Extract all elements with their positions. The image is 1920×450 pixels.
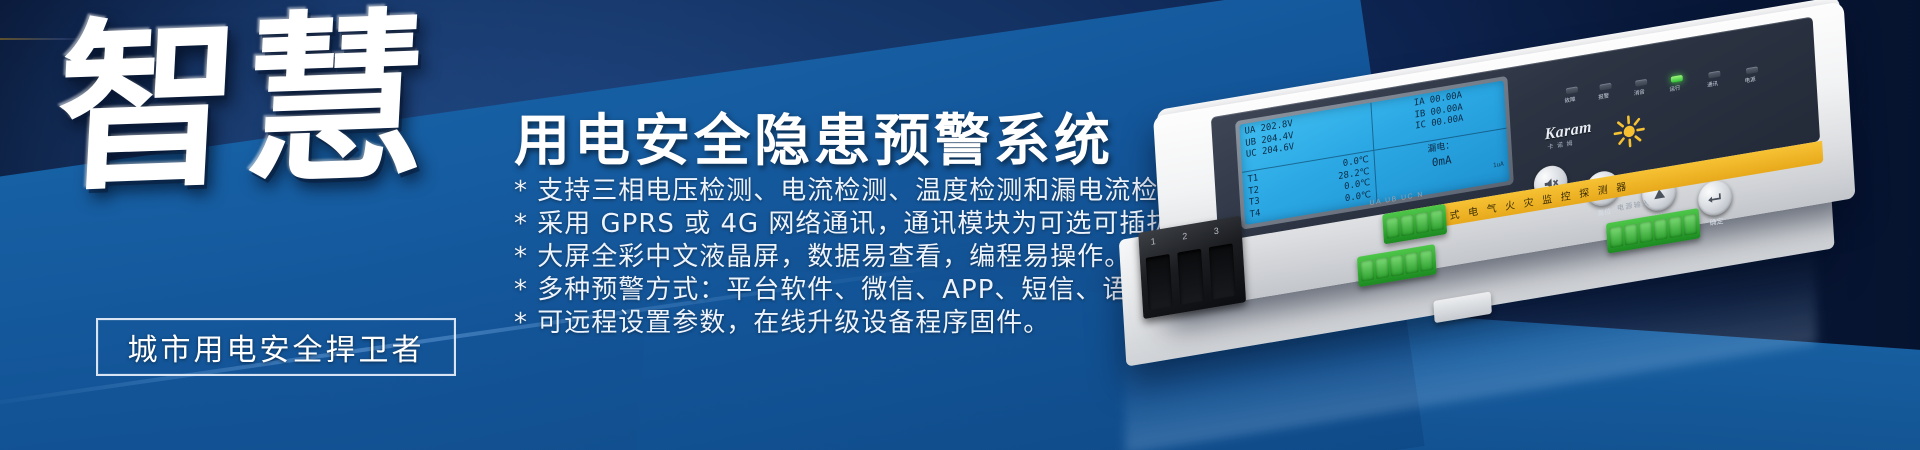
product-image: UA 202.8V UB 204.4V UC 204.6V IA 00.00A … <box>1095 10 1920 340</box>
led-run <box>1671 75 1683 83</box>
black-connector: 1 2 3 <box>1138 216 1246 319</box>
tagline-text: 城市用电安全捍卫者 <box>128 325 425 369</box>
terminal-pin <box>1683 214 1697 236</box>
connector-slot <box>1146 254 1173 310</box>
terminal-pin <box>1668 216 1682 238</box>
led-alarm <box>1599 83 1611 91</box>
terminal-pin <box>1385 217 1399 239</box>
terminal-pin <box>1390 255 1404 277</box>
enter-icon <box>1707 190 1724 206</box>
terminal-pin <box>1639 221 1653 243</box>
connector-number-3: 3 <box>1214 225 1220 236</box>
terminal-pin <box>1654 218 1668 240</box>
tagline-box: 城市用电安全捍卫者 <box>96 318 456 376</box>
connector-number-1: 1 <box>1150 236 1156 247</box>
sun-logo-icon <box>1611 112 1647 152</box>
promo-banner: 智慧 城市用电安全捍卫者 用电安全隐患预警系统 * 支持三相电压检测、电流检测、… <box>0 0 1920 450</box>
terminal-pin <box>1430 209 1444 231</box>
calligraphy-text: 智慧 <box>53 11 463 193</box>
terminal-pin <box>1624 223 1638 245</box>
lcd-temp-label-t4: T4 <box>1249 208 1260 221</box>
led-fault <box>1566 86 1578 94</box>
calligraphy-block: 智慧 <box>58 18 458 308</box>
terminal-pin <box>1609 226 1623 248</box>
page-title: 用电安全隐患预警系统 <box>514 96 1114 177</box>
terminal-pin <box>1415 212 1429 234</box>
terminal-pin <box>1419 250 1433 272</box>
led-mute <box>1635 79 1647 87</box>
connector-slot <box>1209 243 1236 299</box>
terminal-pin <box>1375 257 1389 279</box>
terminal-pin <box>1360 259 1374 281</box>
connector-number-2: 2 <box>1182 231 1188 242</box>
connector-slot <box>1177 249 1204 305</box>
terminal-pin <box>1400 214 1414 236</box>
terminal-pin <box>1405 252 1419 274</box>
